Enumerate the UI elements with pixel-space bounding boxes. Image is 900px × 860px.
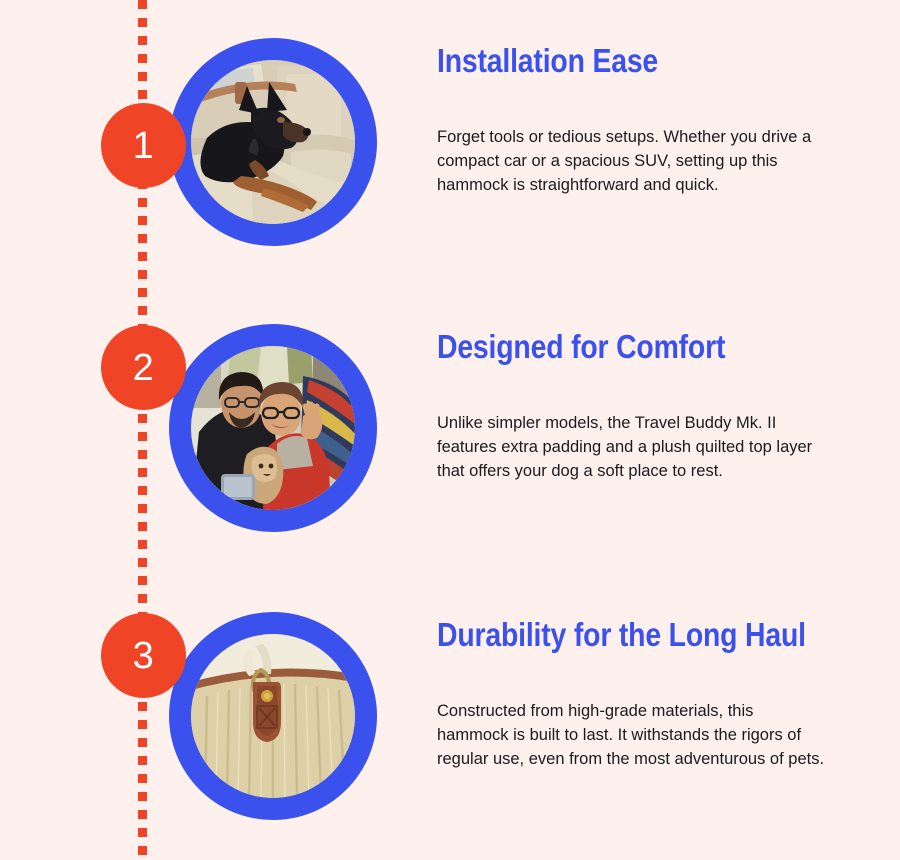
step-heading-1: Installation Ease [437, 44, 781, 79]
step-text-column-2: Designed for Comfort Unlike simpler mode… [437, 330, 837, 484]
step-photo-ring-3 [169, 612, 377, 820]
step-text-column-1: Installation Ease Forget tools or tediou… [437, 44, 837, 198]
step-3-photo [191, 634, 355, 798]
step-number-badge-1: 1 [101, 103, 186, 188]
step-heading-2: Designed for Comfort [437, 330, 781, 365]
step-number-label-2: 2 [133, 349, 155, 387]
step-text-column-3: Durability for the Long Haul Constructed… [437, 618, 837, 772]
step-2-photo [191, 346, 355, 510]
step-number-badge-3: 3 [101, 613, 186, 698]
step-heading-3: Durability for the Long Haul [437, 618, 781, 653]
step-body-2: Unlike simpler models, the Travel Buddy … [437, 365, 833, 484]
step-number-label-3: 3 [133, 637, 155, 675]
step-1-photo [191, 60, 355, 224]
step-number-label-1: 1 [133, 127, 155, 165]
step-photo-ring-1 [169, 38, 377, 246]
step-number-badge-2: 2 [101, 325, 186, 410]
step-body-3: Constructed from high-grade materials, t… [437, 653, 829, 772]
step-photo-ring-2 [169, 324, 377, 532]
step-body-1: Forget tools or tedious setups. Whether … [437, 79, 833, 198]
